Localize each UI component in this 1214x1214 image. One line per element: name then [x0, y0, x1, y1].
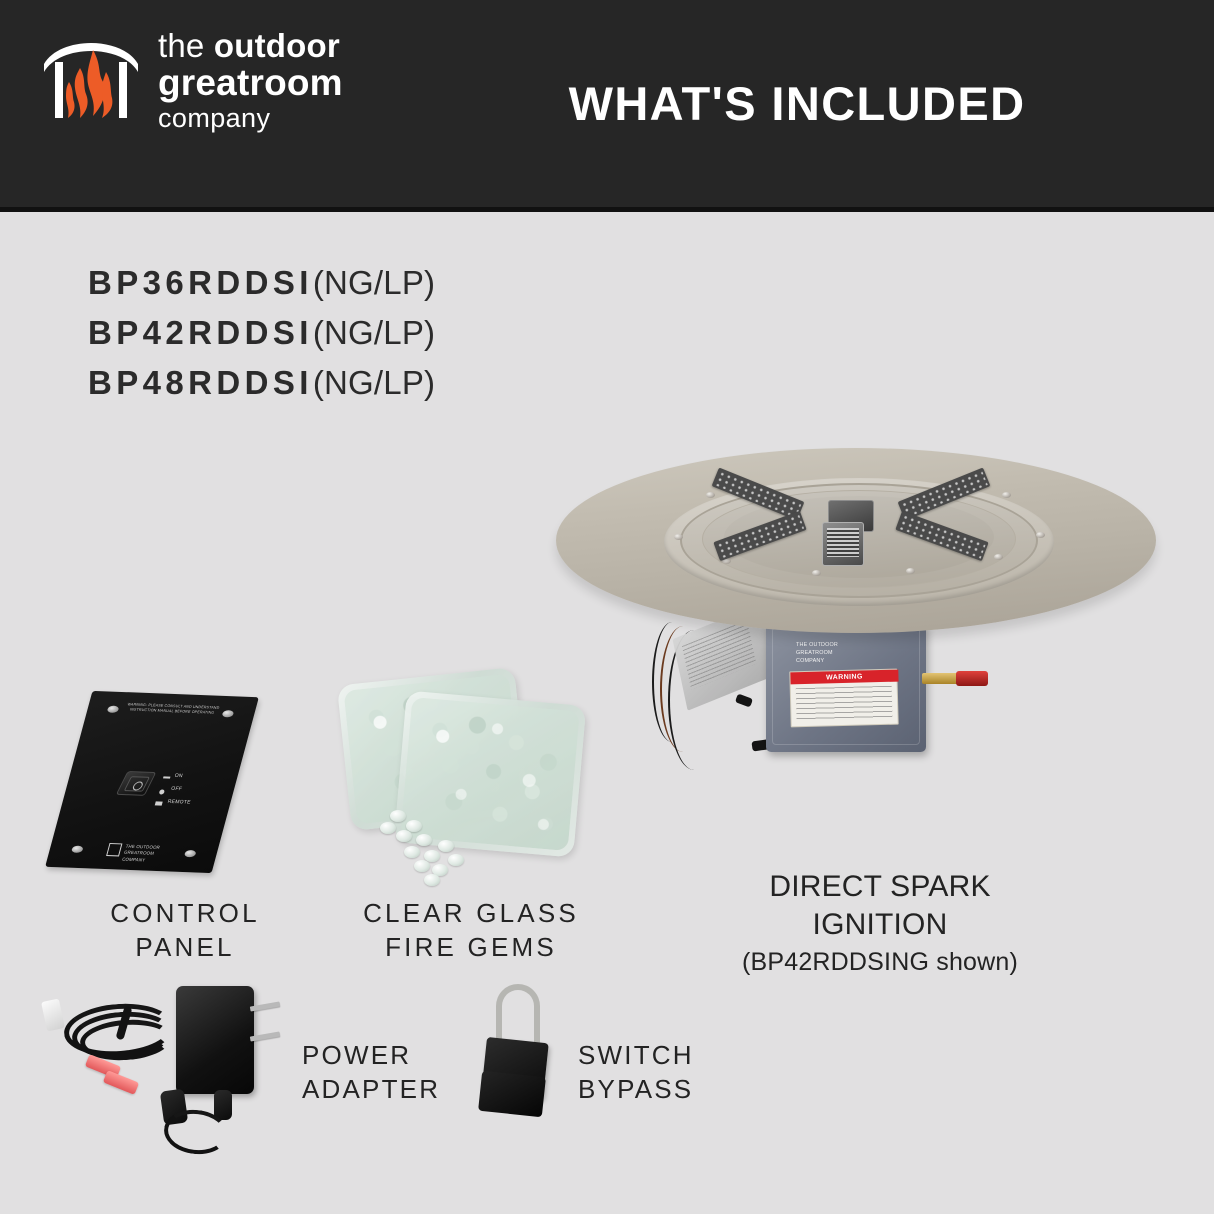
- gem-bag: [394, 690, 587, 857]
- panel-warning-text: WARNING: PLEASE CONSULT AND UNDERSTAND I…: [117, 702, 229, 717]
- caption-switch-bypass: SWITCH BYPASS: [578, 1038, 778, 1107]
- pan-bolt: [906, 568, 915, 574]
- caption-line-2: FIRE GEMS: [340, 930, 602, 964]
- loose-gem: [404, 846, 420, 858]
- direct-spark-ignition-image: THE OUTDOOR GREATROOM COMPANY WARNING: [556, 440, 1166, 840]
- plug-prong: [250, 1031, 280, 1041]
- logo-word-company: company: [158, 105, 343, 132]
- logo-word-outdoor: outdoor: [214, 27, 340, 64]
- loose-gem: [438, 840, 454, 852]
- pan-bolt: [1002, 492, 1011, 498]
- loose-gem: [448, 854, 464, 866]
- clear-glass-fire-gems-image: [338, 662, 600, 894]
- caption-clear-glass-fire-gems: CLEAR GLASS FIRE GEMS: [340, 896, 602, 965]
- header-bar: the outdoor greatroom company WHAT'S INC…: [0, 0, 1214, 207]
- pan-bolt: [812, 570, 821, 576]
- red-valve-cap: [956, 671, 988, 686]
- remote-indicator-mark: [155, 801, 163, 805]
- switch-label-remote: REMOTE: [167, 799, 192, 806]
- model-number-list: BP36RDDSI(NG/LP) BP42RDDSI(NG/LP) BP48RD…: [88, 264, 435, 414]
- adapter-body: [176, 986, 254, 1094]
- loose-gem: [414, 860, 430, 872]
- caption-power-adapter: POWER ADAPTER: [302, 1038, 502, 1107]
- spade-connector: [103, 1070, 139, 1095]
- caption-line-1: CONTROL: [60, 896, 310, 930]
- brand-logo-text: the outdoor greatroom company: [158, 29, 343, 132]
- wire-sleeve: [41, 998, 65, 1031]
- warning-label-body-text: [796, 686, 893, 723]
- caption-direct-spark-ignition-sublabel: (BP42RDDSING shown): [690, 948, 1070, 977]
- control-panel-image: WARNING: PLEASE CONSULT AND UNDERSTAND I…: [60, 688, 310, 878]
- model-gas-type: (NG/LP): [313, 364, 435, 401]
- pan-bolt: [706, 492, 715, 498]
- warning-label-title: WARNING: [790, 670, 898, 685]
- caption-line-2: ADAPTER: [302, 1072, 502, 1106]
- panel-logo-mark: [106, 843, 122, 856]
- on-indicator-mark: [163, 776, 170, 778]
- power-adapter-image: [28, 978, 308, 1158]
- whats-included-infographic: the outdoor greatroom company WHAT'S INC…: [0, 0, 1214, 1214]
- panel-brand-text: THE OUTDOOR GREATROOM COMPANY: [121, 844, 160, 864]
- caption-direct-spark-ignition: DIRECT SPARK IGNITION: [690, 868, 1070, 943]
- loose-gem: [396, 830, 412, 842]
- brand-line-2: GREATROOM: [796, 650, 838, 658]
- loose-gem: [390, 810, 406, 822]
- pavilion-flame-logo-icon: [38, 28, 144, 132]
- model-row: BP36RDDSI(NG/LP): [88, 264, 435, 302]
- brass-fitting: [922, 673, 958, 684]
- caption-line-1: POWER: [302, 1038, 502, 1072]
- logo-word-the: the: [158, 27, 204, 64]
- model-row: BP42RDDSI(NG/LP): [88, 314, 435, 352]
- panel-screw: [71, 846, 84, 853]
- logo-word-greatroom: greatroom: [158, 64, 343, 101]
- wire-clip: [735, 694, 753, 708]
- loose-gem: [416, 834, 432, 846]
- gas-inlet-fitting: [922, 670, 994, 686]
- logo-line-1: the outdoor: [158, 29, 343, 62]
- loose-gem: [380, 822, 396, 834]
- off-indicator-mark: [159, 789, 165, 794]
- brand-line-3: COMPANY: [796, 658, 838, 666]
- control-box-brand-text: THE OUTDOOR GREATROOM COMPANY: [796, 642, 838, 665]
- caption-line-1: SWITCH: [578, 1038, 778, 1072]
- plug-prong: [250, 1001, 280, 1011]
- model-code: BP36RDDSI: [88, 264, 313, 301]
- caption-line-1: CLEAR GLASS: [340, 896, 602, 930]
- caption-control-panel: CONTROL PANEL: [60, 896, 310, 965]
- gem-bag-contents: [400, 697, 580, 851]
- brand-logo: the outdoor greatroom company: [38, 28, 343, 132]
- switch-label-on: ON: [174, 773, 184, 779]
- caption-line-2: PANEL: [60, 930, 310, 964]
- pan-bolt: [674, 534, 683, 540]
- control-panel-plate: WARNING: PLEASE CONSULT AND UNDERSTAND I…: [45, 691, 259, 873]
- switch-label-off: OFF: [170, 786, 182, 792]
- page-title: WHAT'S INCLUDED: [380, 0, 1214, 207]
- ignition-control-box: THE OUTDOOR GREATROOM COMPANY WARNING: [766, 622, 926, 752]
- spark-ignitor-module: [822, 522, 864, 566]
- power-rocker-switch[interactable]: [116, 771, 157, 796]
- model-gas-type: (NG/LP): [313, 264, 435, 301]
- warning-label: WARNING: [789, 669, 898, 728]
- caption-line-1: DIRECT SPARK: [690, 868, 1070, 906]
- bypass-wire-loop: [496, 984, 540, 1046]
- loose-gem: [424, 874, 440, 886]
- model-row: BP48RDDSI(NG/LP): [88, 364, 435, 402]
- panel-screw: [184, 850, 197, 857]
- model-gas-type: (NG/LP): [313, 314, 435, 351]
- model-code: BP48RDDSI: [88, 364, 313, 401]
- caption-line-2: IGNITION: [690, 906, 1070, 944]
- caption-line-2: BYPASS: [578, 1072, 778, 1106]
- header-divider: [0, 207, 1214, 212]
- pan-bolt: [1036, 532, 1045, 538]
- brand-line-1: THE OUTDOOR: [796, 642, 838, 650]
- rocker-toggle[interactable]: [124, 776, 150, 792]
- model-code: BP42RDDSI: [88, 314, 313, 351]
- burner-pan-disc: [556, 448, 1156, 633]
- pan-bolt: [994, 554, 1003, 560]
